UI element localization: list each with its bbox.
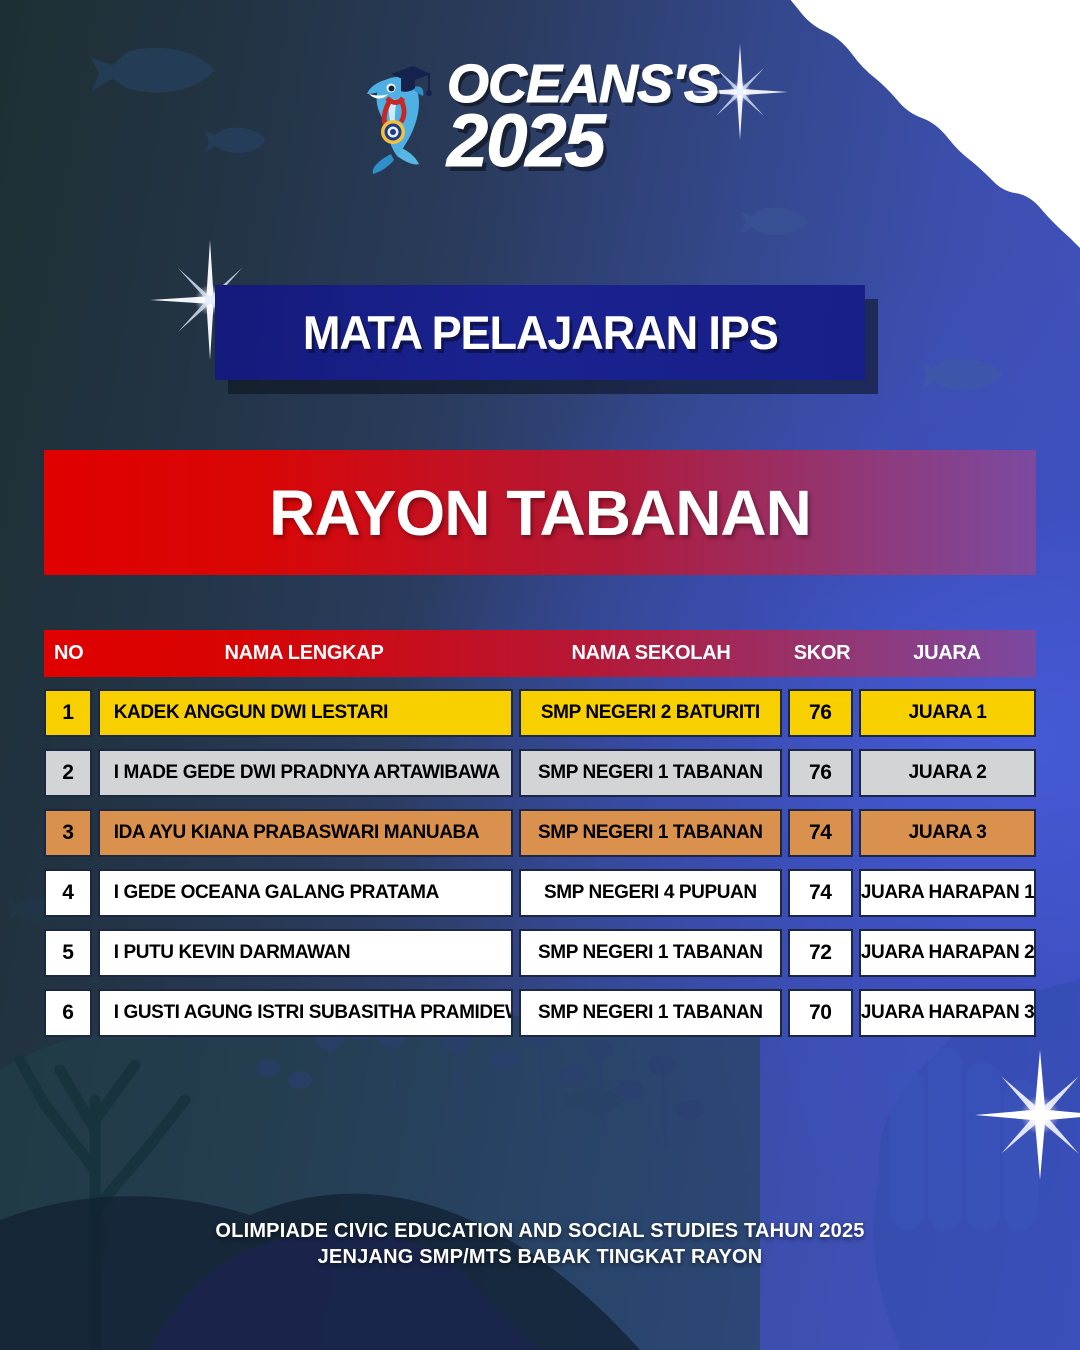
table-row: 6 I GUSTI AGUNG ISTRI SUBASITHA PRAMIDEW… xyxy=(44,989,1036,1037)
cell-no: 3 xyxy=(44,809,92,857)
table-header-row: NO NAMA LENGKAP NAMA SEKOLAH SKOR JUARA xyxy=(44,630,1036,677)
cell-school: SMP NEGERI 4 PUPUAN xyxy=(519,869,781,917)
cell-score: 74 xyxy=(788,809,854,857)
cell-rank: JUARA HARAPAN 1 xyxy=(859,869,1036,917)
rayon-banner: RAYON TABANAN xyxy=(44,450,1036,575)
cell-name: KADEK ANGGUN DWI LESTARI xyxy=(98,689,513,737)
cell-no: 4 xyxy=(44,869,92,917)
table-row: 4 I GEDE OCEANA GALANG PRATAMA SMP NEGER… xyxy=(44,869,1036,917)
cell-name: I GUSTI AGUNG ISTRI SUBASITHA PRAMIDEWI xyxy=(98,989,513,1037)
cell-score: 74 xyxy=(788,869,854,917)
column-header-no: NO xyxy=(44,642,92,665)
subject-banner-plate: MATA PELAJARAN IPS xyxy=(215,285,865,380)
cell-no: 5 xyxy=(44,929,92,977)
cell-school: SMP NEGERI 1 TABANAN xyxy=(519,929,781,977)
cell-school: SMP NEGERI 2 BATURITI xyxy=(519,689,781,737)
column-header-name: NAMA LENGKAP xyxy=(92,642,516,665)
fish-silhouette-icon xyxy=(740,205,810,237)
table-row: 5 I PUTU KEVIN DARMAWAN SMP NEGERI 1 TAB… xyxy=(44,929,1036,977)
cell-school: SMP NEGERI 1 TABANAN xyxy=(519,809,781,857)
footer-caption: OLIMPIADE CIVIC EDUCATION AND SOCIAL STU… xyxy=(0,1218,1080,1271)
rayon-title: RAYON TABANAN xyxy=(269,476,811,550)
cell-rank: JUARA 1 xyxy=(859,689,1036,737)
cell-rank: JUARA 3 xyxy=(859,809,1036,857)
table-row: 3 IDA AYU KIANA PRABASWARI MANUABA SMP N… xyxy=(44,809,1036,857)
event-logo: OCEANS'S 2025 xyxy=(0,58,1080,176)
cell-no: 6 xyxy=(44,989,92,1037)
fish-silhouette-icon xyxy=(920,355,1004,393)
cell-score: 76 xyxy=(788,689,854,737)
cell-rank: JUARA HARAPAN 2 xyxy=(859,929,1036,977)
dolphin-graduate-icon xyxy=(361,58,433,176)
cell-no: 1 xyxy=(44,689,92,737)
subject-banner: MATA PELAJARAN IPS xyxy=(215,285,865,380)
cell-name: I GEDE OCEANA GALANG PRATAMA xyxy=(98,869,513,917)
logo-wordmark: OCEANS'S 2025 xyxy=(447,62,719,172)
footer-line-2: JENJANG SMP/MTS BABAK TINGKAT RAYON xyxy=(0,1244,1080,1270)
poster-root: OCEANS'S 2025 MATA PELAJARAN IPS RAYON T… xyxy=(0,0,1080,1350)
cell-school: SMP NEGERI 1 TABANAN xyxy=(519,989,781,1037)
fish-silhouette-icon xyxy=(560,1085,626,1115)
column-header-score: SKOR xyxy=(786,642,858,665)
logo-line-year: 2025 xyxy=(447,110,719,172)
sparkle-icon xyxy=(975,1050,1080,1180)
results-table: NO NAMA LENGKAP NAMA SEKOLAH SKOR JUARA … xyxy=(44,630,1036,1037)
column-header-school: NAMA SEKOLAH xyxy=(516,642,786,665)
cell-name: I MADE GEDE DWI PRADNYA ARTAWIBAWA xyxy=(98,749,513,797)
cell-rank: JUARA 2 xyxy=(859,749,1036,797)
cell-school: SMP NEGERI 1 TABANAN xyxy=(519,749,781,797)
table-row: 1 KADEK ANGGUN DWI LESTARI SMP NEGERI 2 … xyxy=(44,689,1036,737)
cell-rank: JUARA HARAPAN 3 xyxy=(859,989,1036,1037)
cell-score: 72 xyxy=(788,929,854,977)
cell-name: I PUTU KEVIN DARMAWAN xyxy=(98,929,513,977)
cell-name: IDA AYU KIANA PRABASWARI MANUABA xyxy=(98,809,513,857)
cell-score: 70 xyxy=(788,989,854,1037)
cell-score: 76 xyxy=(788,749,854,797)
footer-line-1: OLIMPIADE CIVIC EDUCATION AND SOCIAL STU… xyxy=(0,1218,1080,1244)
cell-no: 2 xyxy=(44,749,92,797)
subject-title: MATA PELAJARAN IPS xyxy=(303,305,778,360)
column-header-rank: JUARA xyxy=(858,642,1036,665)
table-row: 2 I MADE GEDE DWI PRADNYA ARTAWIBAWA SMP… xyxy=(44,749,1036,797)
